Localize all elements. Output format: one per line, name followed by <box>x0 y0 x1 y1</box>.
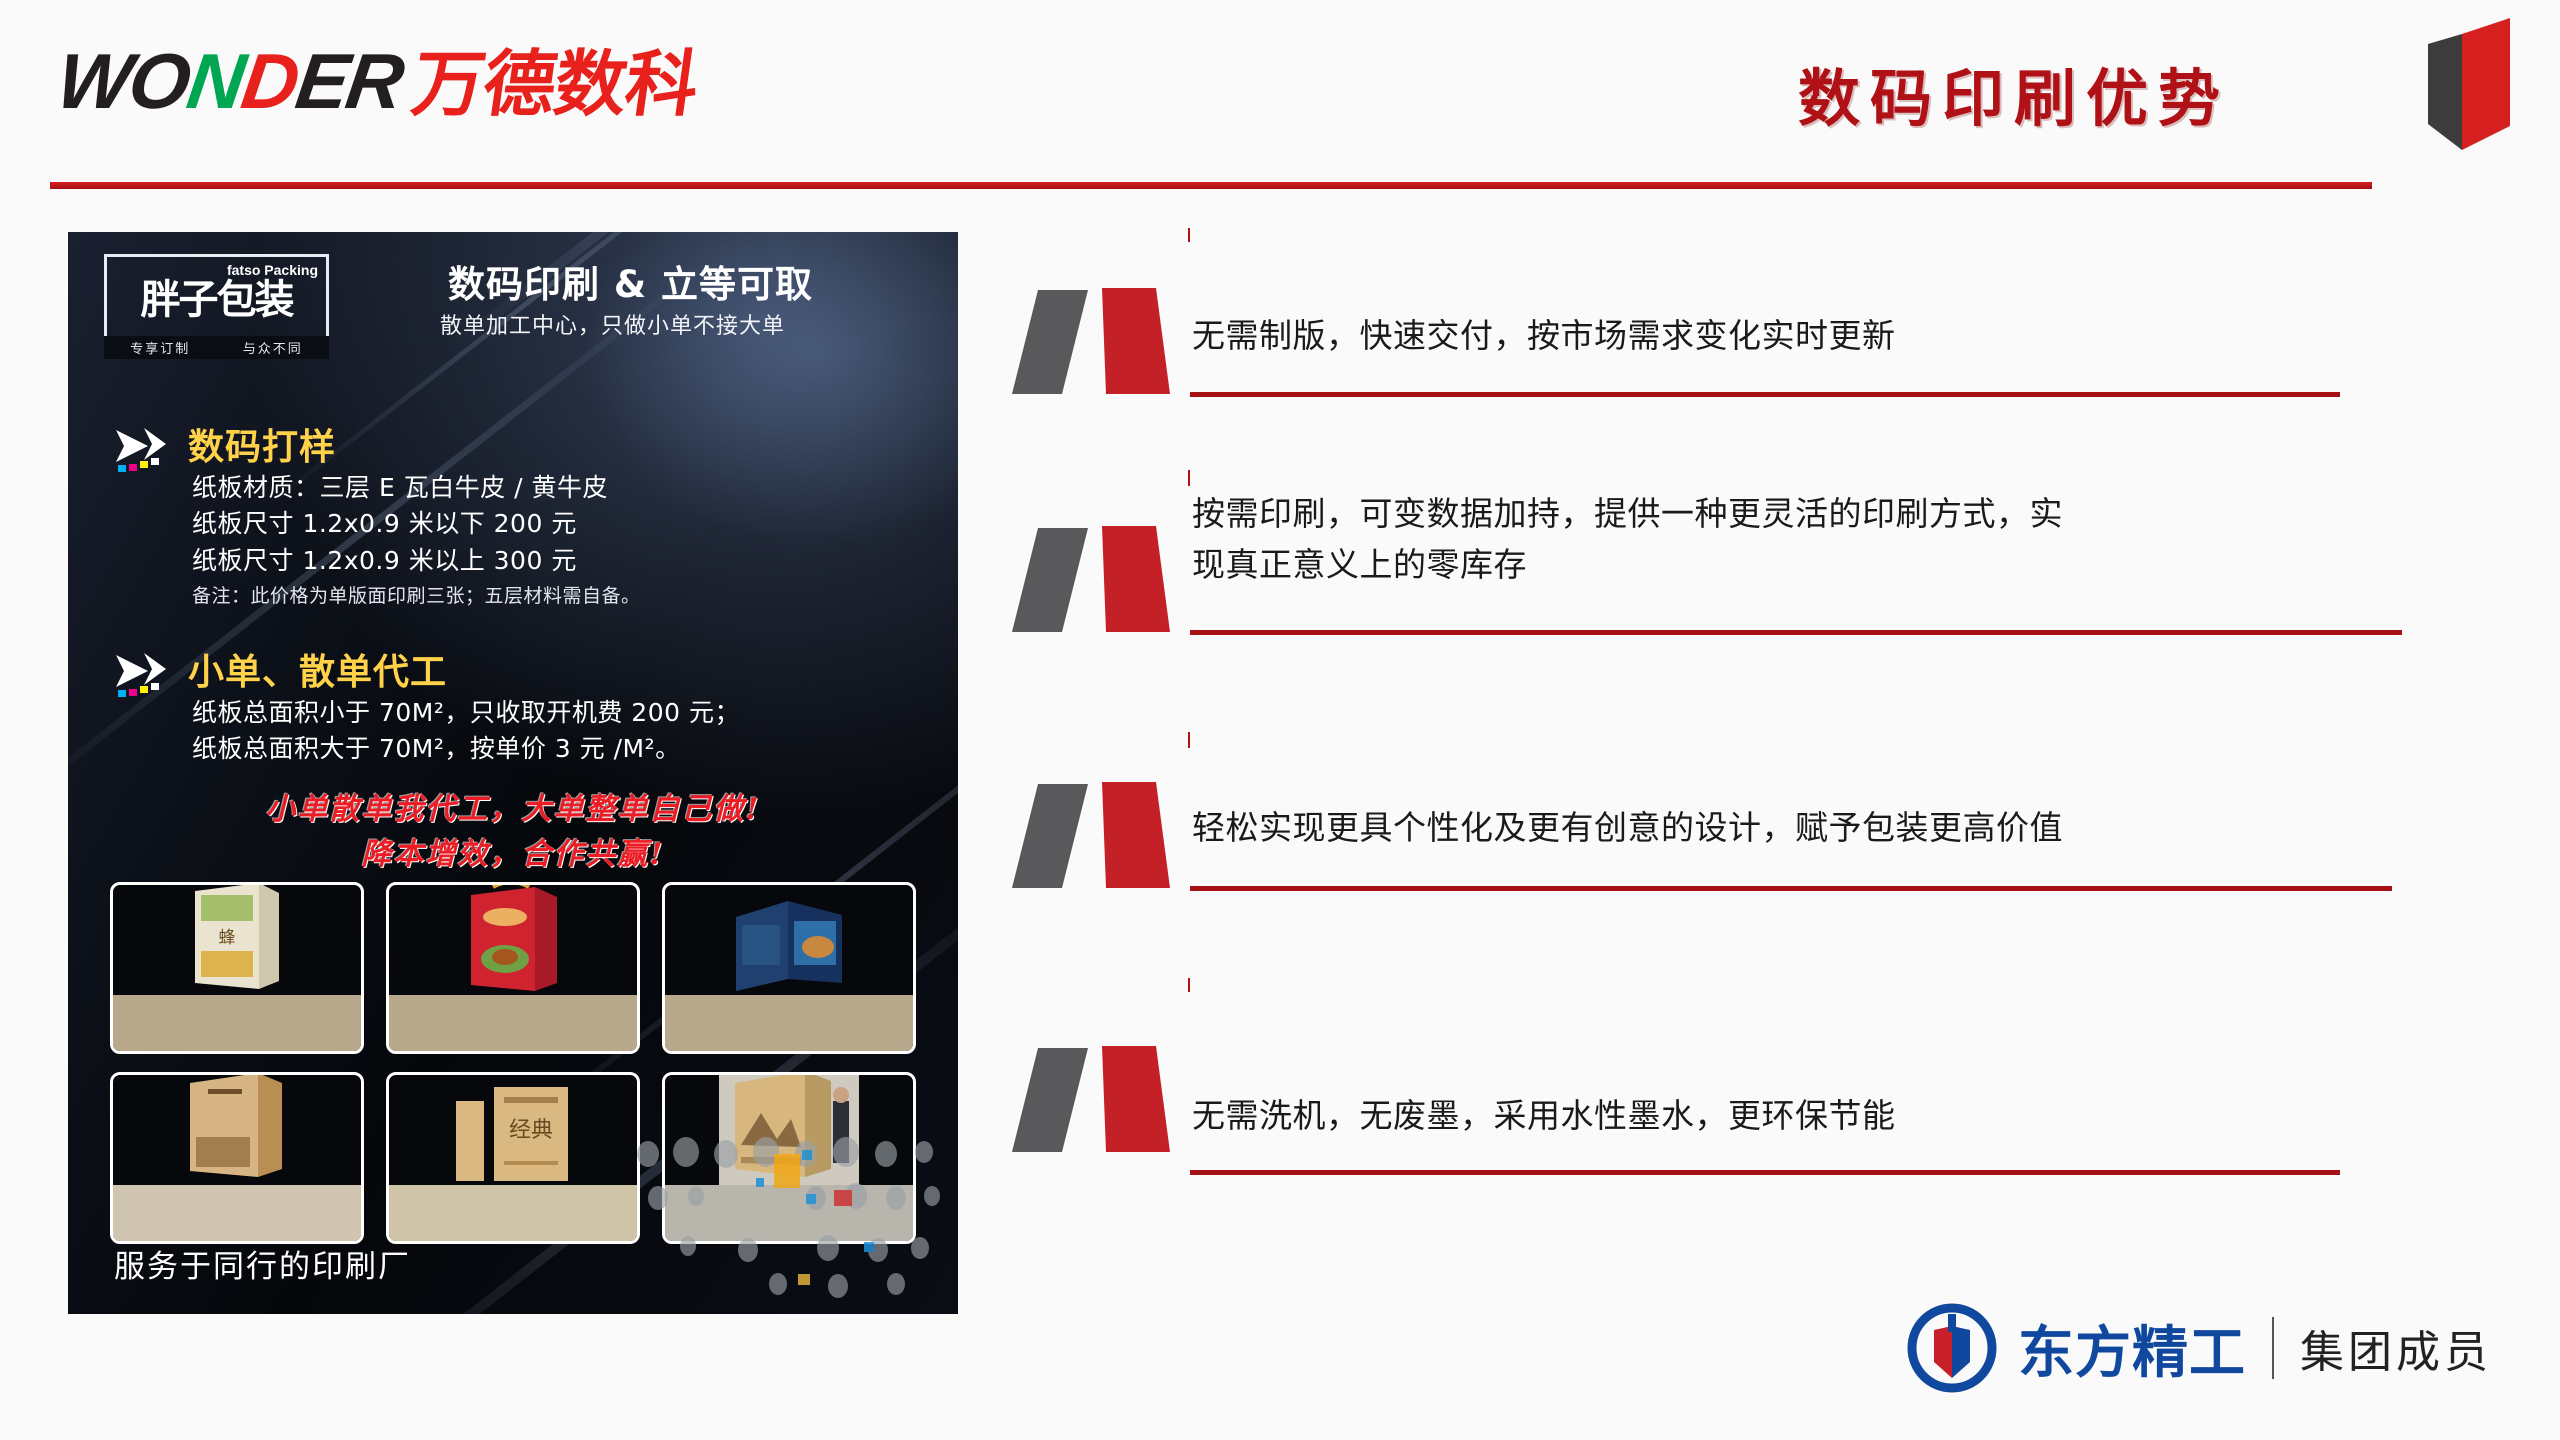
tick-mark <box>1188 470 1190 486</box>
footer-subtitle: 集团成员 <box>2300 1316 2492 1380</box>
advantage-underline <box>1190 886 2392 891</box>
poster-section-line: 纸板材质：三层 E 瓦白牛皮 / 黄牛皮 <box>192 470 641 506</box>
company-logo: WONDER 万德数科 <box>58 42 697 120</box>
advantage-text: 无需制版，快速交付，按市场需求变化实时更新 <box>1192 310 1896 361</box>
product-photo-honey-gift-box: 蜂 <box>110 882 364 1054</box>
advantage-line: 按需印刷，可变数据加持，提供一种更灵活的印刷方式，实 <box>1192 488 2063 539</box>
advantage-underline <box>1190 392 2340 397</box>
header-divider <box>50 182 2372 189</box>
poster-slogan-line: 降本增效，合作共赢! <box>68 832 958 877</box>
fatso-logo-taglines: 专享订制 与众不同 <box>104 336 329 359</box>
fatso-logo-cn2: 包装 <box>217 277 293 323</box>
advantage-item-4: 无需洗机，无废墨，采用水性墨水，更环保节能 <box>1010 994 2390 1224</box>
fatso-packing-logo: 胖子包装 fatso Packing <box>104 254 329 346</box>
advantage-line: 现真正意义上的零库存 <box>1192 539 2063 590</box>
photo-row: 蜂 <box>110 882 916 1054</box>
tick-mark <box>1188 732 1190 748</box>
product-photo-beef-pie-carton <box>662 882 916 1054</box>
poster-section-line: 纸板总面积大于 70M²，按单价 3 元 /M²。 <box>192 731 740 767</box>
fatso-tagline-left: 专享订制 <box>130 338 190 357</box>
logo-wordmark-chinese: 万德数科 <box>408 48 702 120</box>
svg-text:蜂: 蜂 <box>219 928 236 948</box>
fatso-logo-en: fatso Packing <box>227 262 318 278</box>
double-slash-marker-icon <box>1010 284 1200 402</box>
product-photo-kraft-building-box <box>110 1072 364 1244</box>
poster-slogan-line: 小单散单我代工，大单整单自己做! <box>68 787 958 832</box>
poster-section-note: 备注：此价格为单版面印刷三张；五层材料需自备。 <box>192 583 641 611</box>
advantage-item-3: 轻松实现更具个性化及更有创意的设计，赋予包装更高价值 <box>1010 754 2390 994</box>
chevron-arrow-icon <box>114 651 174 699</box>
advantage-line: 无需制版，快速交付，按市场需求变化实时更新 <box>1192 310 1896 361</box>
group-member-logo: 东方精工 集团成员 <box>1904 1300 2492 1396</box>
dongfang-jingong-logo-icon <box>1904 1300 2000 1396</box>
advantage-item-1: 无需制版，快速交付，按市场需求变化实时更新 <box>1010 232 2390 464</box>
fatso-logo-cn1: 胖子 <box>141 277 217 323</box>
page-title: 数码印刷优势 <box>1798 48 2230 138</box>
poster-subheadline: 散单加工中心，只做小单不接大单 <box>440 308 785 340</box>
tick-mark <box>1188 978 1190 992</box>
red-gift-box-icon <box>463 882 563 995</box>
poster-section-title: 数码打样 <box>188 418 336 470</box>
footer-brand-name: 东方精工 <box>2018 1308 2246 1389</box>
fatso-tagline-right: 与众不同 <box>243 338 303 357</box>
poster-section-line: 纸板尺寸 1.2x0.9 米以上 300 元 <box>192 543 641 579</box>
beef-pie-carton-icon <box>730 895 848 995</box>
svg-text:经典: 经典 <box>509 1118 553 1143</box>
poster-section-title: 小单、散单代工 <box>188 643 447 695</box>
logo-wordmark-latin: WONDER <box>53 42 407 120</box>
poster-slogan: 小单散单我代工，大单整单自己做! 降本增效，合作共赢! <box>68 787 958 877</box>
product-photo-classic-wine-boxes: 经典 <box>386 1072 640 1244</box>
halftone-dots-decoration <box>628 1134 958 1314</box>
advantage-text: 轻松实现更具个性化及更有创意的设计，赋予包装更高价值 <box>1192 802 2063 853</box>
tick-mark <box>1188 228 1190 242</box>
kraft-box-icon <box>182 1072 292 1185</box>
advantage-item-2: 按需印刷，可变数据加持，提供一种更灵活的印刷方式，实 现真正意义上的零库存 <box>1010 464 2390 754</box>
poster-section-body: 纸板总面积小于 70M²，只收取开机费 200 元； 纸板总面积大于 70M²，… <box>192 695 740 768</box>
chevron-arrow-icon <box>114 426 174 474</box>
classic-boxes-icon: 经典 <box>448 1075 578 1185</box>
advantage-underline <box>1190 630 2402 635</box>
double-slash-marker-icon <box>1010 1042 1200 1160</box>
product-photo-red-chicken-box <box>386 882 640 1054</box>
poster-footer-text: 服务于同行的印刷厂 <box>114 1241 411 1286</box>
footer-divider <box>2272 1317 2274 1379</box>
slide-header: WONDER 万德数科 数码印刷优势 <box>0 0 2560 190</box>
promo-poster-image: 胖子包装 fatso Packing 专享订制 与众不同 数码印刷 & 立等可取… <box>68 232 958 1314</box>
poster-header: 胖子包装 fatso Packing 专享订制 与众不同 数码印刷 & 立等可取… <box>68 232 958 352</box>
advantages-list: 无需制版，快速交付，按市场需求变化实时更新 按需印刷，可变数据加持，提供一种更灵… <box>1010 232 2390 1224</box>
advantage-text: 按需印刷，可变数据加持，提供一种更灵活的印刷方式，实 现真正意义上的零库存 <box>1192 488 2063 590</box>
honey-gift-box-icon: 蜂 <box>189 882 285 995</box>
poster-headline: 数码印刷 & 立等可取 <box>448 254 813 308</box>
advantage-line: 轻松实现更具个性化及更有创意的设计，赋予包装更高价值 <box>1192 802 2063 853</box>
poster-section-line: 纸板尺寸 1.2x0.9 米以下 200 元 <box>192 506 641 542</box>
advantage-underline <box>1190 1170 2340 1175</box>
folded-page-mark-icon <box>2414 4 2524 164</box>
advantage-line: 无需洗机，无废墨，采用水性墨水，更环保节能 <box>1192 1090 1896 1141</box>
double-slash-marker-icon <box>1010 522 1200 640</box>
poster-section-line: 纸板总面积小于 70M²，只收取开机费 200 元； <box>192 695 740 731</box>
poster-section-body: 纸板材质：三层 E 瓦白牛皮 / 黄牛皮 纸板尺寸 1.2x0.9 米以下 20… <box>192 470 641 610</box>
double-slash-marker-icon <box>1010 778 1200 896</box>
advantage-text: 无需洗机，无废墨，采用水性墨水，更环保节能 <box>1192 1090 1896 1141</box>
